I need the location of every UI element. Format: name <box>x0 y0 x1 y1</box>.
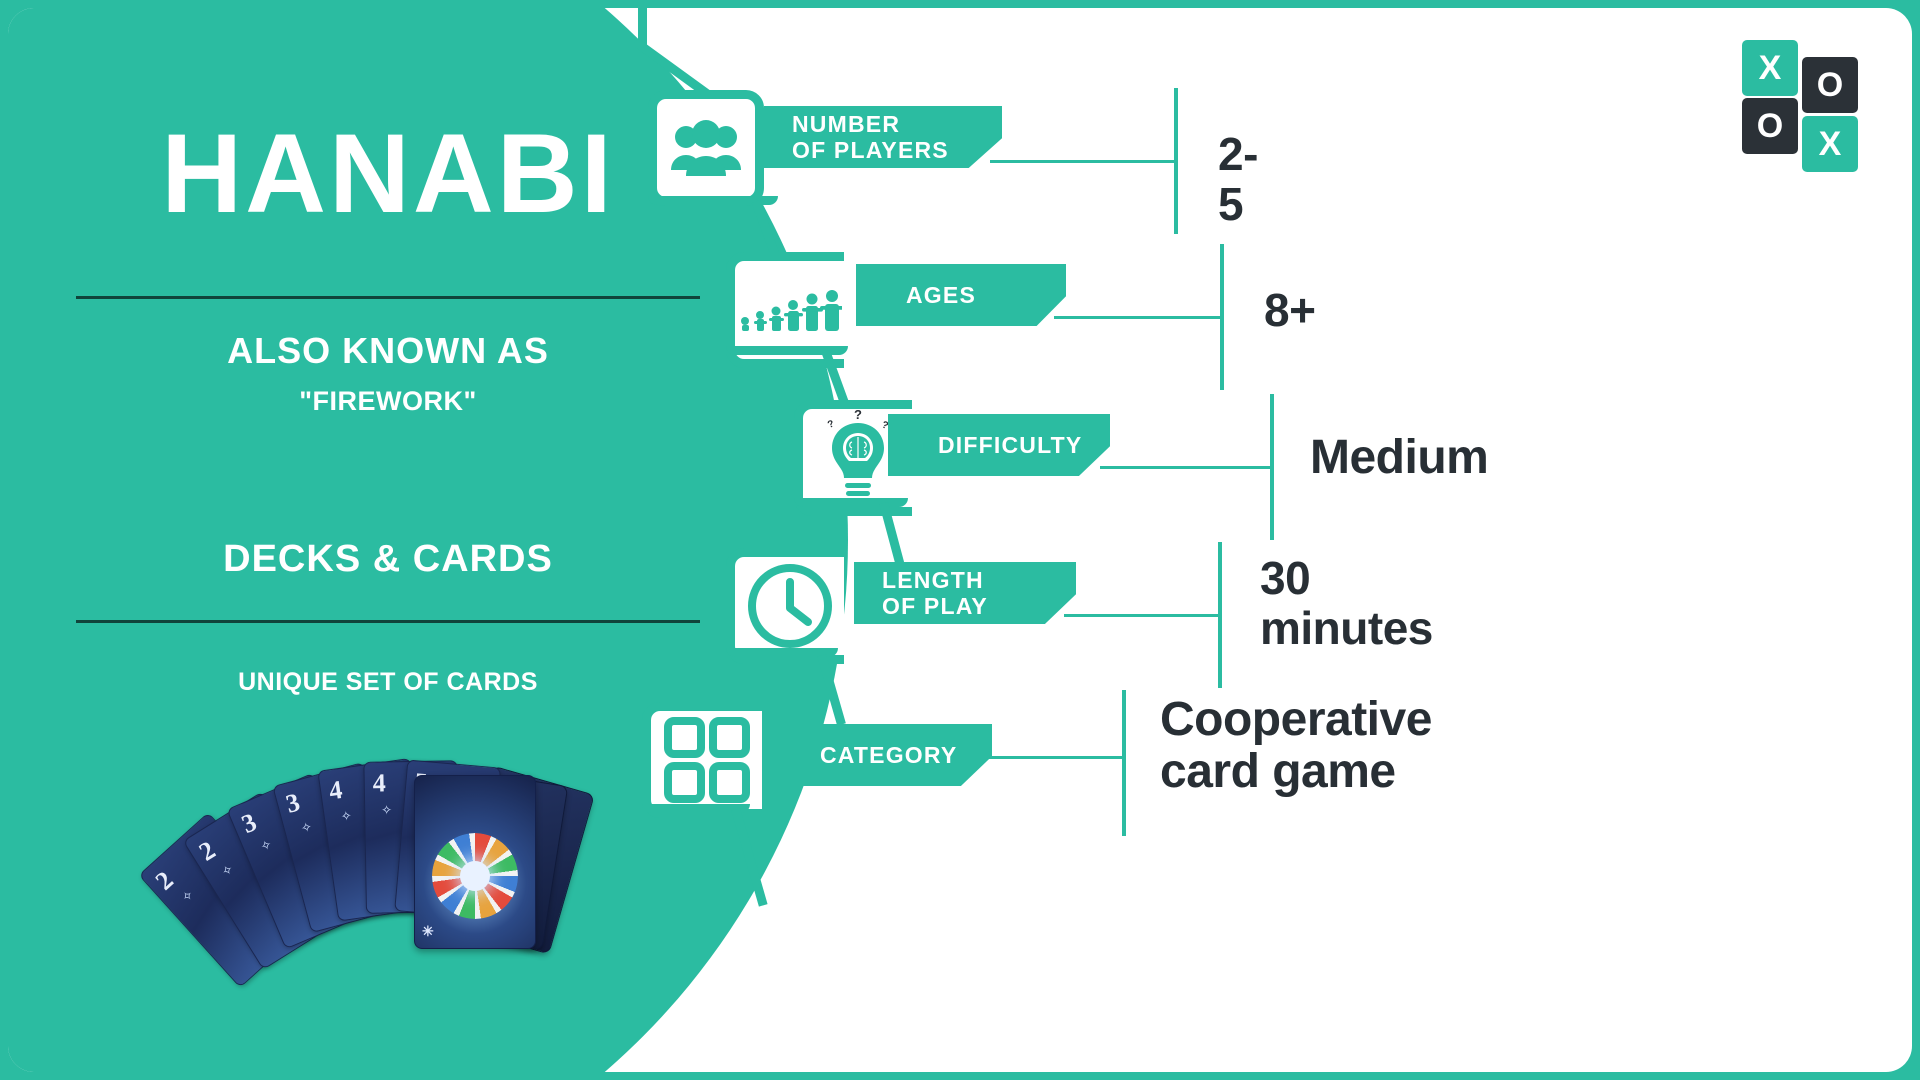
connector-tick <box>1270 394 1274 540</box>
banner-category[interactable]: CATEGORY <box>770 724 992 786</box>
clock-icon <box>726 548 844 664</box>
connector-line <box>1054 316 1222 319</box>
logo-cell-x-top-left: X <box>1742 40 1798 96</box>
banner-label: CATEGORY <box>798 742 957 768</box>
spec-rows: NUMBER OF PLAYERS 2-5 <box>8 8 1912 1072</box>
white-card-surface: HANABI ALSO KNOWN AS "FIREWORK" DECKS & … <box>8 8 1912 1072</box>
banner-label: DIFFICULTY <box>916 432 1082 458</box>
connector-tick <box>1220 244 1224 390</box>
banner-number-of-players[interactable]: NUMBER OF PLAYERS <box>764 106 1002 168</box>
people-group-icon <box>648 90 764 206</box>
four-squares-grid-icon <box>642 702 762 818</box>
tic-tac-toe-logo: X O O X <box>1742 40 1860 158</box>
banner-difficulty[interactable]: DIFFICULTY <box>888 414 1110 476</box>
svg-text:?: ? <box>826 418 836 430</box>
logo-cell-x-bottom-right: X <box>1802 116 1858 172</box>
value-category: Cooperative card game <box>1160 694 1432 798</box>
logo-cell-o-top-right: O <box>1802 57 1858 113</box>
svg-text:?: ? <box>880 419 890 431</box>
banner-label: AGES <box>884 282 976 308</box>
infographic-root: HANABI ALSO KNOWN AS "FIREWORK" DECKS & … <box>0 0 1920 1080</box>
banner-ages[interactable]: AGES <box>856 264 1066 326</box>
connector-line <box>1100 466 1272 469</box>
svg-text:?: ? <box>854 409 862 422</box>
value-ages: 8+ <box>1264 286 1315 336</box>
value-length-of-play: 30 minutes <box>1260 554 1433 653</box>
banner-label: NUMBER OF PLAYERS <box>792 111 949 164</box>
connector-line <box>990 160 1176 163</box>
banner-length-of-play[interactable]: LENGTH OF PLAY <box>854 562 1076 624</box>
connector-tick <box>1218 542 1222 688</box>
connector-line <box>1064 614 1220 617</box>
connector-tick <box>1174 88 1178 234</box>
banner-label: LENGTH OF PLAY <box>882 567 988 620</box>
connector-line <box>984 756 1124 759</box>
value-number-of-players: 2-5 <box>1218 130 1258 229</box>
connector-tick <box>1122 690 1126 836</box>
value-difficulty: Medium <box>1310 432 1488 484</box>
logo-cell-o-bottom-left: O <box>1742 98 1798 154</box>
